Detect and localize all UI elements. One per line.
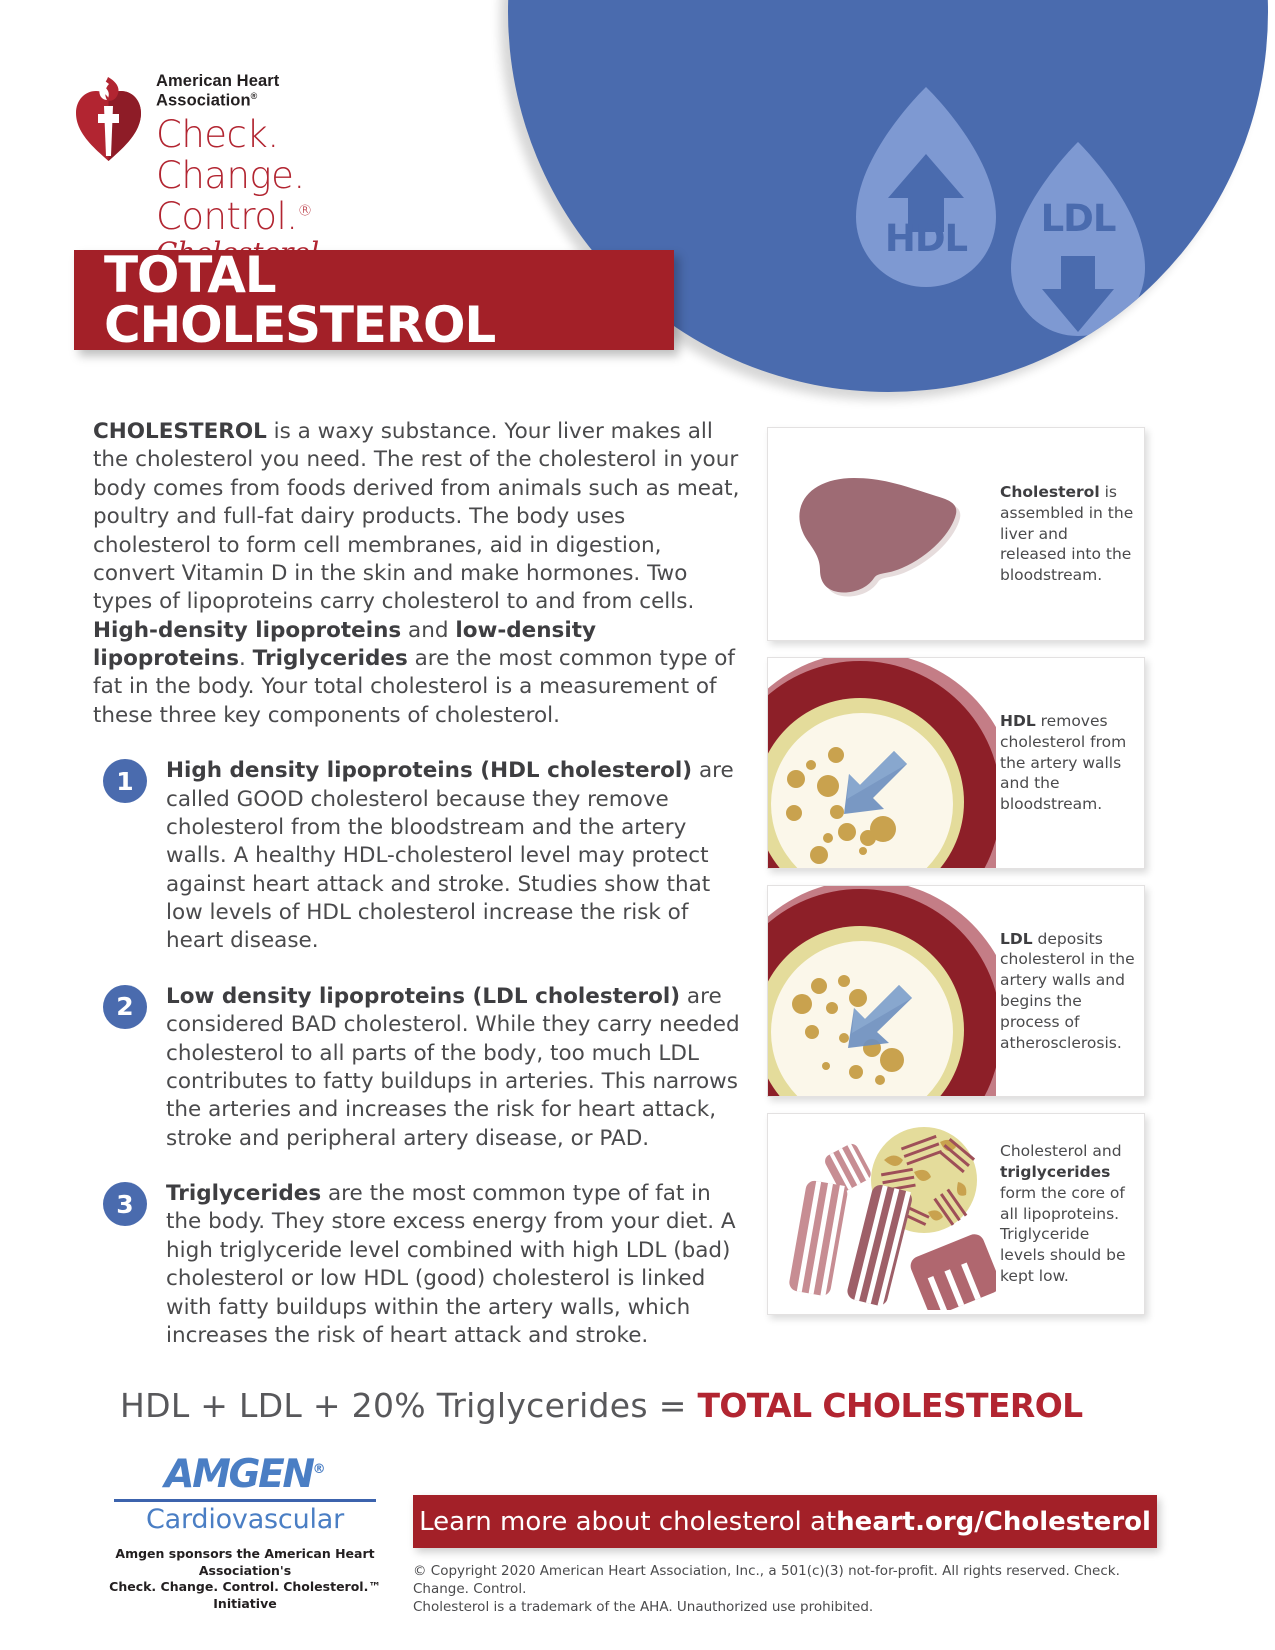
right-column: Cholesterol is assembled in the liver an… (767, 427, 1147, 1331)
info-card-ldl: LDL deposits cholesterol in the artery w… (767, 885, 1145, 1097)
formula-expression: HDL + LDL + 20% Triglycerides = (120, 1386, 697, 1425)
left-column: CHOLESTEROL is a waxy substance. Your li… (93, 418, 743, 1377)
numbered-list: 1 High density lipoproteins (HDL cholest… (93, 757, 743, 1350)
amgen-sponsor-line-2: Check. Change. Control. Cholesterol.™ In… (100, 1579, 390, 1612)
artery-ldl-illustration (768, 886, 996, 1096)
card-text-pre: Cholesterol and (1000, 1142, 1122, 1160)
card-art (768, 1114, 996, 1314)
poster-page: HDL LDL American Heart Association® Chec… (0, 0, 1275, 1650)
card-text-bold: triglycerides (1000, 1163, 1110, 1181)
page-title: TOTAL CHOLESTEROL (104, 250, 674, 350)
card-art (768, 886, 996, 1096)
card-text-body: form the core of all lipoproteins. Trigl… (1000, 1184, 1126, 1285)
ccc-program-label: Check. Change. Control. (156, 113, 305, 239)
list-item: 3 Triglycerides are the most common type… (93, 1180, 743, 1350)
list-item-badge: 3 (103, 1182, 147, 1226)
intro-body-1: is a waxy substance. Your liver makes al… (93, 419, 739, 614)
list-item-badge: 2 (103, 985, 147, 1029)
card-text-bold: HDL (1000, 712, 1036, 730)
ccc-program-name: Check. Change. Control.® (156, 114, 319, 238)
amgen-registered-mark: ® (313, 1462, 326, 1477)
page-title-banner: TOTAL CHOLESTEROL (74, 250, 674, 350)
learn-more-prefix: Learn more about cholesterol at (419, 1507, 836, 1537)
list-item: 1 High density lipoproteins (HDL cholest… (93, 757, 743, 956)
card-text-bold: LDL (1000, 930, 1033, 948)
list-item-body: are called GOOD cholesterol because they… (166, 758, 734, 953)
intro-body-3: . (239, 646, 253, 671)
card-art (768, 658, 996, 868)
card-text-bold: Cholesterol (1000, 483, 1100, 501)
list-item-body: are the most common type of fat in the b… (166, 1181, 736, 1348)
amgen-sponsor-block: AMGEN® Cardiovascular Amgen sponsors the… (100, 1455, 390, 1612)
intro-body-2: and (401, 618, 455, 643)
amgen-sponsor-line-1: Amgen sponsors the American Heart Associ… (100, 1546, 390, 1579)
formula-result: TOTAL CHOLESTEROL (697, 1386, 1082, 1425)
copyright-text: © Copyright 2020 American Heart Associat… (413, 1562, 1173, 1617)
intro-lead: CHOLESTEROL (93, 419, 267, 444)
aha-logo-text: American Heart Association® Check. Chang… (156, 72, 319, 269)
liver-illustration (794, 468, 974, 598)
amgen-business-unit: Cardiovascular (100, 1504, 390, 1535)
copyright-line-2: Cholesterol is a trademark of the AHA. U… (413, 1598, 1173, 1616)
card-text: HDL removes cholesterol from the artery … (996, 658, 1144, 868)
card-text: Cholesterol is assembled in the liver an… (996, 428, 1144, 640)
copyright-line-1: © Copyright 2020 American Heart Associat… (413, 1562, 1173, 1598)
learn-more-banner[interactable]: Learn more about cholesterol at heart.or… (413, 1495, 1157, 1548)
heart-torch-icon (74, 76, 142, 162)
aha-association-label: American Heart Association (156, 72, 279, 110)
list-item-heading: Low density lipoproteins (LDL cholestero… (166, 984, 680, 1009)
list-item: 2 Low density lipoproteins (LDL choleste… (93, 983, 743, 1153)
total-cholesterol-formula: HDL + LDL + 20% Triglycerides = TOTAL CH… (120, 1386, 1083, 1425)
amgen-divider (114, 1499, 376, 1502)
ldl-drop-label: LDL (1018, 197, 1138, 240)
list-item-heading: High density lipoproteins (HDL cholester… (166, 758, 692, 783)
learn-more-url[interactable]: heart.org/Cholesterol (836, 1507, 1151, 1537)
artery-hdl-illustration (768, 658, 996, 868)
info-card-liver: Cholesterol is assembled in the liver an… (767, 427, 1145, 641)
card-text: Cholesterol and triglycerides form the c… (996, 1114, 1144, 1314)
registered-mark: ® (251, 91, 258, 101)
intro-bold-1: High-density lipoproteins (93, 618, 401, 643)
list-item-badge: 1 (103, 759, 147, 803)
card-text: LDL deposits cholesterol in the artery w… (996, 886, 1144, 1096)
ccc-registered-mark: ® (298, 202, 313, 220)
hdl-drop-label: HDL (866, 217, 986, 260)
info-card-hdl: HDL removes cholesterol from the artery … (767, 657, 1145, 869)
aha-association-name: American Heart Association® (156, 72, 319, 111)
amgen-logo: AMGEN® (100, 1455, 390, 1494)
amgen-logo-label: AMGEN (164, 1452, 312, 1497)
list-item-heading: Triglycerides (166, 1181, 321, 1206)
triglyceride-illustration (772, 1120, 996, 1310)
intro-paragraph: CHOLESTEROL is a waxy substance. Your li… (93, 418, 743, 730)
card-art (768, 428, 996, 640)
intro-bold-3: Triglycerides (253, 646, 408, 671)
amgen-sponsor-text: Amgen sponsors the American Heart Associ… (100, 1546, 390, 1612)
info-card-triglycerides: Cholesterol and triglycerides form the c… (767, 1113, 1145, 1315)
